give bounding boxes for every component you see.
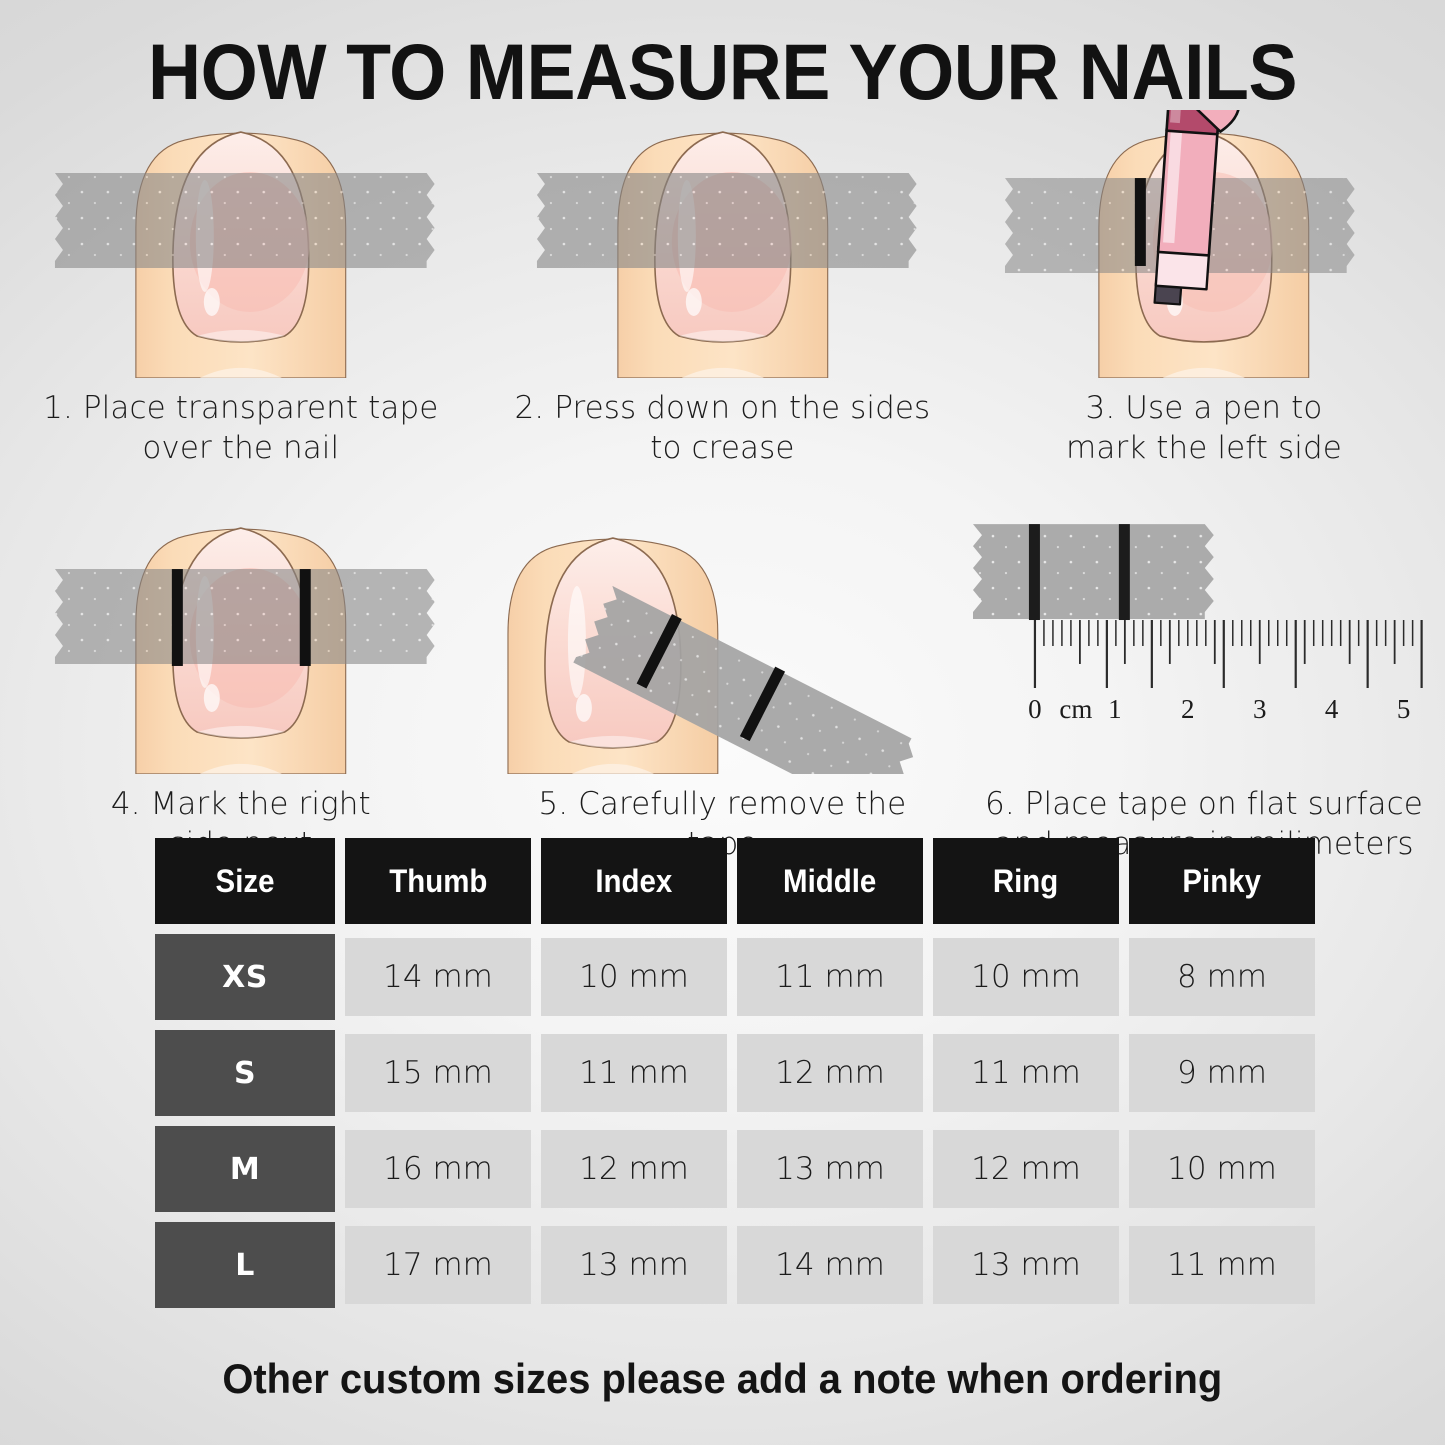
table-row: L 17 mm 13 mm 14 mm 13 mm 11 mm [155, 1222, 1333, 1308]
cell-m-index: 12 mm [541, 1130, 727, 1208]
cell-m-middle: 13 mm [737, 1130, 923, 1208]
step-1-line-2: over the nail [43, 428, 438, 468]
infographic-page: HOW TO MEASURE YOUR NAILS [0, 0, 1445, 1445]
step-1: 1. Place transparent tape over the nail [0, 110, 482, 468]
tape-mark-right [1119, 524, 1130, 620]
table-header-row: Size Thumb Index Middle Ring Pinky [155, 838, 1333, 924]
size-table: Size Thumb Index Middle Ring Pinky XS 14… [155, 838, 1333, 1318]
step-5-illustration [482, 506, 964, 774]
cell-xs-middle: 11 mm [737, 938, 923, 1016]
cell-m-pinky: 10 mm [1129, 1130, 1315, 1208]
left-mark [1135, 178, 1146, 266]
size-label-xs: XS [155, 934, 335, 1020]
cell-m-ring: 12 mm [933, 1130, 1119, 1208]
svg-text:1: 1 [1108, 694, 1121, 724]
tape-mark-left [1029, 524, 1040, 620]
table-row: M 16 mm 12 mm 13 mm 12 mm 10 mm [155, 1126, 1333, 1212]
step-4-line-1: 4. Mark the right [111, 784, 371, 824]
step-3: 3. Use a pen to mark the left side [963, 110, 1445, 468]
transparent-tape-pressed [537, 173, 917, 268]
transparent-tape [55, 569, 435, 664]
header-thumb: Thumb [345, 838, 531, 924]
size-label-l: L [155, 1222, 335, 1308]
header-pinky: Pinky [1129, 838, 1315, 924]
step-2-line-1: 2. Press down on the sides [514, 388, 930, 428]
size-label-m: M [155, 1126, 335, 1212]
cell-l-thumb: 17 mm [345, 1226, 531, 1304]
header-index: Index [541, 838, 727, 924]
ruler [1035, 620, 1422, 688]
cell-l-middle: 14 mm [737, 1226, 923, 1304]
cell-s-pinky: 9 mm [1129, 1034, 1315, 1112]
header-size: Size [155, 838, 335, 924]
steps-row-1: 1. Place transparent tape over the nail [0, 110, 1445, 468]
cell-s-ring: 11 mm [933, 1034, 1119, 1112]
table-row: XS 14 mm 10 mm 11 mm 10 mm 8 mm [155, 934, 1333, 1020]
right-mark [300, 569, 311, 666]
left-mark [172, 569, 183, 666]
ruler-labels: 0 cm 1 2 3 4 5 [1028, 694, 1410, 724]
cell-m-thumb: 16 mm [345, 1130, 531, 1208]
cell-xs-ring: 10 mm [933, 938, 1119, 1016]
step-2: 2. Press down on the sides to crease [482, 110, 964, 468]
step-1-illustration [0, 110, 482, 378]
cell-xs-thumb: 14 mm [345, 938, 531, 1016]
footer-note: Other custom sizes please add a note whe… [0, 1355, 1445, 1403]
cell-s-index: 11 mm [541, 1034, 727, 1112]
svg-text:cm: cm [1060, 694, 1093, 724]
step-6-line-1: 6. Place tape on flat surface [985, 784, 1423, 824]
page-title: HOW TO MEASURE YOUR NAILS [51, 26, 1395, 118]
svg-text:5: 5 [1397, 694, 1410, 724]
step-1-line-1: 1. Place transparent tape [43, 388, 438, 428]
cell-xs-pinky: 8 mm [1129, 938, 1315, 1016]
step-3-illustration [963, 110, 1445, 378]
cell-s-thumb: 15 mm [345, 1034, 531, 1112]
step-6-illustration: 0 cm 1 2 3 4 5 [963, 506, 1445, 774]
step-3-line-2: mark the left side [1066, 428, 1342, 468]
table-row: S 15 mm 11 mm 12 mm 11 mm 9 mm [155, 1030, 1333, 1116]
step-4-illustration [0, 506, 482, 774]
cell-s-middle: 12 mm [737, 1034, 923, 1112]
size-label-s: S [155, 1030, 335, 1116]
svg-text:0: 0 [1028, 694, 1041, 724]
step-1-caption: 1. Place transparent tape over the nail [43, 388, 438, 468]
header-middle: Middle [737, 838, 923, 924]
step-2-illustration [482, 110, 964, 378]
step-2-caption: 2. Press down on the sides to crease [514, 388, 930, 468]
svg-text:4: 4 [1325, 694, 1339, 724]
flat-tape [973, 524, 1214, 620]
transparent-tape [55, 173, 435, 268]
svg-text:3: 3 [1253, 694, 1266, 724]
svg-text:2: 2 [1181, 694, 1194, 724]
step-3-caption: 3. Use a pen to mark the left side [1066, 388, 1342, 468]
cell-xs-index: 10 mm [541, 938, 727, 1016]
cell-l-ring: 13 mm [933, 1226, 1119, 1304]
cell-l-pinky: 11 mm [1129, 1226, 1315, 1304]
cell-l-index: 13 mm [541, 1226, 727, 1304]
steps-section: 1. Place transparent tape over the nail [0, 110, 1445, 904]
step-3-line-1: 3. Use a pen to [1066, 388, 1342, 428]
header-ring: Ring [933, 838, 1119, 924]
step-2-line-2: to crease [514, 428, 930, 468]
